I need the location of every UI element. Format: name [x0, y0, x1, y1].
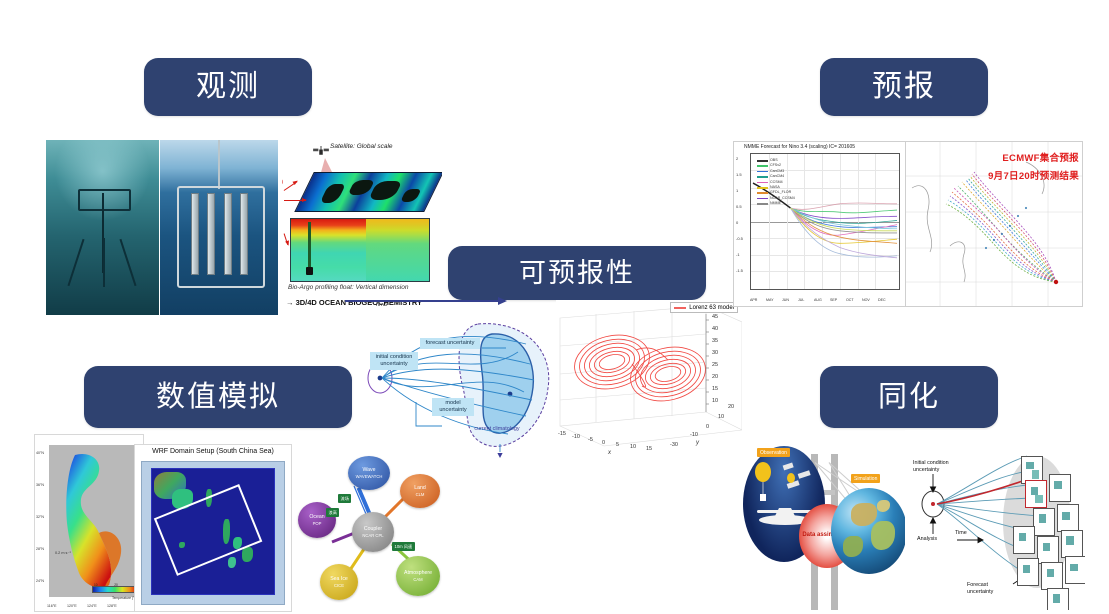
track-map-svg [906, 142, 1082, 306]
x-axis-label: x [608, 450, 611, 456]
ensemble-member-thumb [1013, 526, 1035, 554]
flow-arrow-observation-to-predictability [345, 300, 505, 302]
figure-lorenz-attractor: Lorenz 63 model 10 15 20 25 30 35 40 45 … [556, 300, 742, 458]
ensemble-member-thumb [1065, 556, 1085, 584]
ctd-bottle [224, 193, 232, 276]
label-forecast: 预报 [820, 58, 988, 116]
sst-lat-tick: 36°N [36, 483, 44, 487]
ensemble-member-thumb [1041, 562, 1063, 590]
figure-ecmwf-ensemble-track: ECMWF集合预报 9月7日20时预测结果 [905, 141, 1083, 307]
wrf-domain-d01 [151, 468, 275, 595]
photo-underwater-mooring [46, 140, 159, 315]
nmme-y-tick: 2 [736, 156, 738, 161]
ensemble-member-thumb [1057, 504, 1079, 532]
coupler-tag-0: 流场 [338, 494, 351, 503]
figure-data-assimilation-bridge: Observation Data assimilation Simulation [737, 432, 909, 610]
label-numerical-simulation-text: 数值模拟 [156, 383, 280, 412]
figure-ensemble-cone: forecast uncertainty initial condition u… [358, 306, 554, 458]
x-tick: 10 [630, 444, 636, 450]
lorenz-legend: Lorenz 63 model [670, 302, 738, 313]
ensemble-member-thumb-selected[interactable] [1025, 480, 1047, 508]
simulation-globe [831, 488, 907, 574]
wrf-outer-map [141, 461, 285, 605]
nmme-x-tick: OCT [846, 298, 854, 302]
ensemble-member-thumb [1017, 558, 1039, 586]
z-tick: 30 [712, 350, 718, 356]
sst-lat-tick: 32°N [36, 515, 44, 519]
ensemble-member-thumb [1047, 588, 1069, 610]
ensemble-member-thumb [1033, 508, 1055, 536]
sst-lat-tick: 28°N [36, 547, 44, 551]
mooring-leg [68, 239, 85, 286]
track-annotation-line1: ECMWF集合预报 [1002, 150, 1079, 164]
ctd-bottle [207, 193, 215, 276]
x-tick: 5 [616, 442, 619, 448]
sst-field [49, 445, 139, 597]
photo-ctd-rosette [160, 140, 278, 315]
x-tick: -15 [558, 431, 566, 437]
tag-simulation: Simulation [851, 474, 880, 483]
label-observation: 观测 [144, 58, 312, 116]
nmme-x-tick: JUN [782, 298, 789, 302]
y-axis-label: y [696, 440, 699, 446]
global-map-slab [294, 172, 442, 212]
tag-observation: Observation [757, 448, 790, 457]
coupler-tag-1: 浪高 [326, 508, 339, 517]
legend-item: NMME [757, 201, 795, 206]
z-tick: 35 [712, 338, 718, 344]
z-tick: 45 [712, 314, 718, 320]
label-initial-condition-uncertainty: Initial condition uncertainty [913, 460, 971, 474]
nmme-y-tick: 1 [736, 188, 738, 193]
figure-ocean-biogeochemistry: Satellite: Global scale (y) (x) (z) Bio-… [282, 138, 442, 310]
label-numerical-simulation: 数值模拟 [84, 366, 352, 428]
nmme-x-tick: NOV [862, 298, 870, 302]
bio-argo-caption: Bio-Argo profiling float: Vertical dimen… [288, 284, 408, 291]
ensemble-cone-svg [358, 306, 554, 458]
ctd-bottle [240, 193, 248, 276]
x-tick: 15 [646, 446, 652, 452]
track-annotation-line2: 9月7日20时预测结果 [988, 168, 1079, 182]
nmme-x-tick: DEC [878, 298, 886, 302]
ctd-crane-cable [218, 140, 220, 189]
sst-lon-tick: 124°E [87, 604, 97, 608]
label-assimilation-text: 同化 [878, 383, 940, 412]
y-tick: -30 [670, 442, 678, 448]
coupler-node-sea-ice: Sea Ice CICE [320, 564, 358, 600]
tag-model-uncertainty: model uncertainty [432, 398, 474, 416]
axis-arrow-y [284, 181, 298, 191]
mooring-leg [103, 238, 105, 287]
nmme-title: NMME Forecast for Nino 3.4 (scaling) IC=… [744, 144, 855, 150]
tag-initial-condition-uncertainty: initial condition uncertainty [370, 352, 418, 370]
sst-lon-tick: 120°E [67, 604, 77, 608]
nmme-y-tick: 1.5 [736, 172, 742, 177]
nmme-y-tick: -1 [736, 252, 740, 257]
figure-sst-current-map: 40°N 36°N 32°N 28°N 24°N 116°E 120°E 124… [34, 434, 144, 612]
sst-vector-scale: 0.2 m s⁻¹ [55, 550, 71, 555]
label-analysis: Analysis [917, 536, 937, 543]
coupler-node-atmosphere: Atmosphere CAM [396, 556, 440, 596]
label-time: Time [955, 530, 967, 537]
z-tick: 15 [712, 386, 718, 392]
label-observation-text: 观测 [196, 72, 260, 102]
nmme-y-tick: 0 [736, 220, 738, 225]
figure-coupled-model-diagram: Wave WAVEWATCH Land CLM Ocean POP Couple… [296, 450, 460, 610]
axis-arrow-x [284, 200, 306, 201]
x-tick: 0 [602, 440, 605, 446]
z-tick: 40 [712, 326, 718, 332]
y-tick: 10 [718, 414, 724, 420]
coupler-node-coupler: Coupler NCAR CPL [352, 512, 394, 552]
bio-argo-float [308, 222, 311, 272]
lorenz-legend-swatch [674, 307, 686, 309]
y-tick: 20 [728, 404, 734, 410]
label-predictability: 可预报性 [448, 246, 706, 300]
axis-label-y: (y) [282, 180, 283, 186]
sst-map-panel [49, 445, 139, 597]
wrf-title: WRF Domain Setup (South China Sea) [135, 448, 291, 455]
axis-arrow-z [283, 233, 288, 245]
x-tick: -10 [572, 434, 580, 440]
z-tick: 20 [712, 374, 718, 380]
sst-lon-tick: 116°E [47, 604, 57, 608]
nmme-plot-area: OBS CFSv2 CanCM3 CanCM4 CCSM4 NASA GFDL_… [750, 153, 900, 290]
slide-canvas: 观测 预报 可预报性 数值模拟 同化 Satellite: Global [0, 0, 1109, 614]
z-tick: 25 [712, 362, 718, 368]
coupler-tag-2: 10m 风速 [392, 542, 415, 551]
label-forecast-uncertainty: Forecast uncertainty [967, 582, 1013, 596]
nmme-legend: OBS CFSv2 CanCM3 CanCM4 CCSM4 NASA GFDL_… [757, 158, 795, 207]
nmme-x-tick: SEP [830, 298, 837, 302]
label-forecast-text: 预报 [872, 72, 936, 102]
z-tick: 10 [712, 398, 718, 404]
nmme-y-tick: -1.5 [736, 268, 743, 273]
figure-nmme-nino34-forecast: NMME Forecast for Nino 3.4 (scaling) IC=… [733, 141, 907, 307]
label-predictability-text: 可预报性 [519, 260, 635, 287]
ensemble-member-thumb [1037, 536, 1059, 564]
sst-lat-tick: 24°N [36, 579, 44, 583]
ensemble-member-thumb [1049, 474, 1071, 502]
tag-forecast-uncertainty: forecast uncertainty [420, 338, 480, 349]
tag-current-climatology: current climatology [474, 426, 520, 432]
y-tick: 0 [706, 424, 709, 430]
x-tick: -5 [588, 437, 593, 443]
nmme-x-tick: APR [750, 298, 757, 302]
figure-wrf-domain-setup: WRF Domain Setup (South China Sea) [134, 444, 292, 612]
mooring-frame [78, 189, 132, 211]
nmme-x-tick: JUL [798, 298, 804, 302]
sst-colorbar [92, 586, 138, 593]
nmme-x-tick: MAY [766, 298, 774, 302]
figure-ensemble-forecast-fan: Initial condition uncertainty Analysis T… [905, 430, 1085, 610]
sst-lat-tick: 40°N [36, 451, 44, 455]
nmme-y-tick: -0.5 [736, 236, 743, 241]
ctd-bottle [191, 193, 199, 276]
ensemble-member-thumb [1061, 530, 1083, 558]
y-tick: -10 [690, 432, 698, 438]
sst-lon-tick: 128°E [107, 604, 117, 608]
coupler-node-wave: Wave WAVEWATCH [348, 456, 390, 490]
lorenz-legend-label: Lorenz 63 model [689, 305, 734, 311]
label-assimilation: 同化 [820, 366, 998, 428]
nmme-y-tick: 0.5 [736, 204, 742, 209]
satellite-label: Satellite: Global scale [330, 143, 393, 150]
coupler-node-land: Land CLM [400, 474, 440, 508]
nmme-x-tick: AUG [814, 298, 822, 302]
mooring-leg [120, 239, 137, 286]
